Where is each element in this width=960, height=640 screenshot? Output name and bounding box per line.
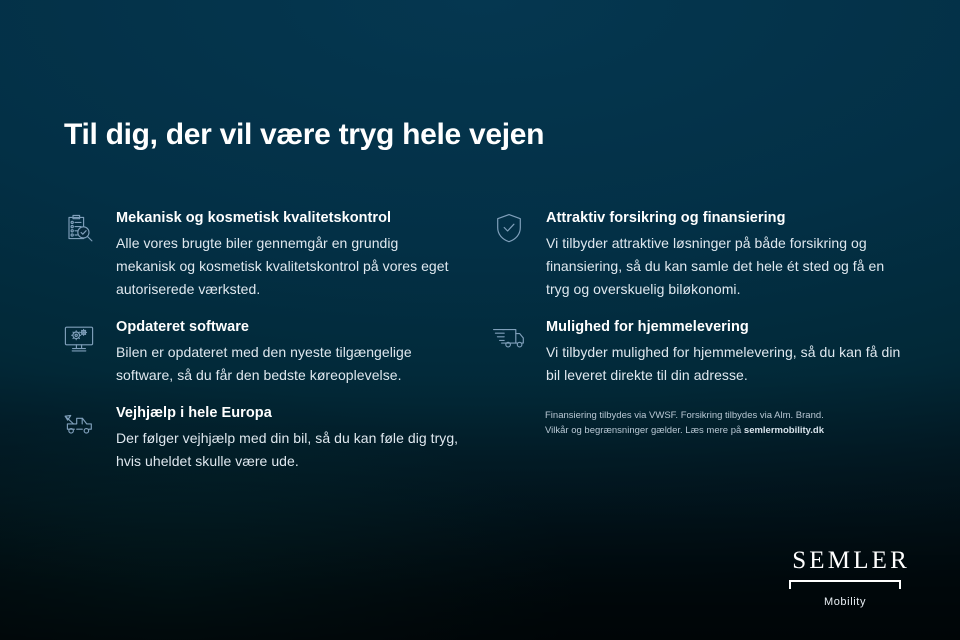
feature-title: Opdateret software: [116, 319, 460, 335]
feature-updated-software: Opdateret software Bilen er opdateret me…: [60, 318, 460, 387]
feature-description: Bilen er opdateret med den nyeste tilgæn…: [116, 341, 460, 387]
shield-check-icon: [490, 209, 528, 244]
fine-print-line-2: Vilkår og begrænsninger gælder. Læs mere…: [545, 424, 935, 439]
feature-quality-control: Mekanisk og kosmetisk kvalitetskontrol A…: [60, 209, 460, 300]
feature-text: Vejhjælp i hele Europa Der følger vejhjæ…: [116, 404, 460, 473]
logo-wordmark: SEMLER: [789, 548, 901, 573]
feature-insurance-financing: Attraktiv forsikring og finansiering Vi …: [490, 209, 910, 300]
fine-print-line-1: Finansiering tilbydes via VWSF. Forsikri…: [545, 409, 935, 424]
legal-fine-print: Finansiering tilbydes via VWSF. Forsikri…: [545, 409, 935, 438]
feature-title: Mulighed for hjemmelevering: [546, 319, 910, 335]
feature-roadside-assistance: Vejhjælp i hele Europa Der følger vejhjæ…: [60, 404, 460, 473]
feature-text: Mulighed for hjemmelevering Vi tilbyder …: [546, 318, 910, 387]
clipboard-magnifier-icon: [60, 209, 98, 246]
tow-truck-icon: [60, 404, 98, 441]
feature-title: Attraktiv forsikring og finansiering: [546, 210, 910, 226]
logo-subtitle: Mobility: [789, 596, 901, 608]
feature-description: Vi tilbyder attraktive løsninger på både…: [546, 232, 910, 300]
promo-panel: Til dig, der vil være tryg hele vejen Me: [0, 0, 960, 640]
semler-mobility-logo: SEMLER Mobility: [789, 548, 901, 608]
logo-bracket-rule: [789, 580, 901, 589]
feature-home-delivery: Mulighed for hjemmelevering Vi tilbyder …: [490, 318, 910, 387]
feature-description: Vi tilbyder mulighed for hjemmelevering,…: [546, 341, 910, 387]
feature-text: Mekanisk og kosmetisk kvalitetskontrol A…: [116, 209, 460, 300]
feature-description: Alle vores brugte biler gennemgår en gru…: [116, 232, 460, 300]
delivery-truck-icon: [490, 318, 528, 353]
feature-text: Attraktiv forsikring og finansiering Vi …: [546, 209, 910, 300]
feature-title: Vejhjælp i hele Europa: [116, 405, 460, 421]
page-title: Til dig, der vil være tryg hele vejen: [64, 118, 544, 152]
feature-title: Mekanisk og kosmetisk kvalitetskontrol: [116, 210, 460, 226]
fine-print-line-2-text: Vilkår og begrænsninger gælder. Læs mere…: [545, 425, 744, 436]
monitor-gears-icon: [60, 318, 98, 355]
logo-rule-tick-left: [789, 580, 791, 589]
semlermobility-link[interactable]: semlermobility.dk: [744, 425, 824, 436]
feature-text: Opdateret software Bilen er opdateret me…: [116, 318, 460, 387]
feature-description: Der følger vejhjælp med din bil, så du k…: [116, 427, 460, 473]
logo-rule-tick-right: [899, 580, 901, 589]
